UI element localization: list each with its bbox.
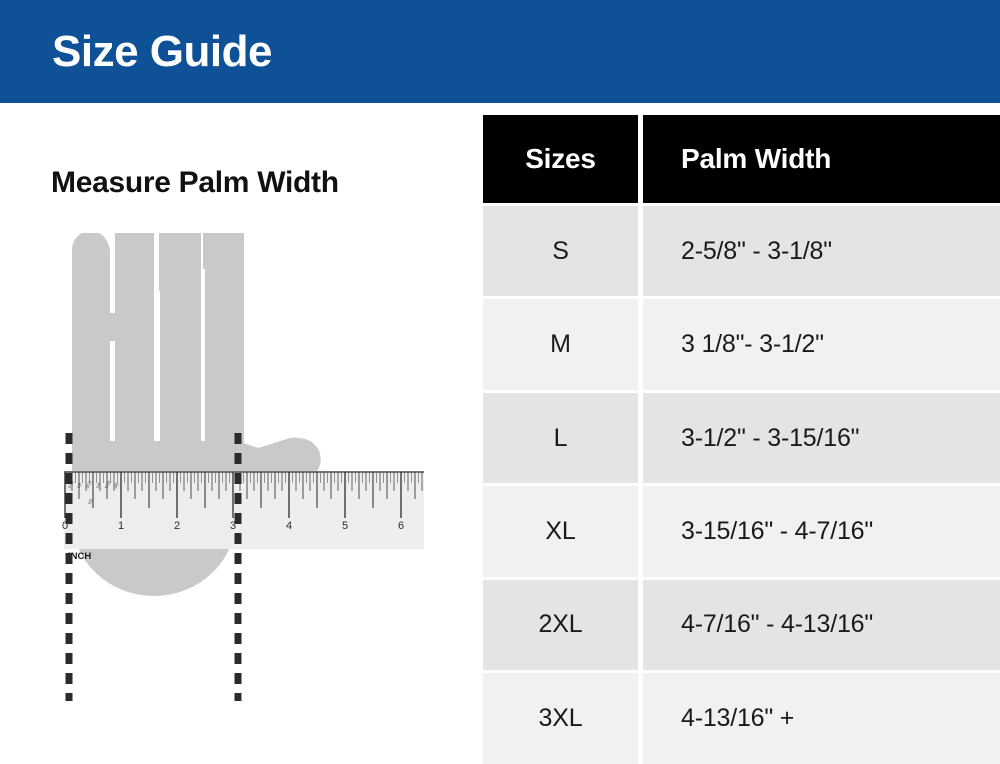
hand-with-ruler-illustration: 1/16 1/8 3/16 1/4 5/16 3/8 1/2 0 1 2 3 4… [60,233,460,703]
page-title: Size Guide [52,27,272,77]
cell-size: 3XL [483,673,638,763]
table-row: 2XL 4-7/16" - 4-13/16" [483,580,1000,670]
svg-text:2: 2 [174,520,180,532]
size-chart-table: Sizes Palm Width S 2-5/8" - 3-1/8" M 3 1… [483,115,1000,748]
cell-palm-width: 3 1/8"- 3-1/2" [643,299,1000,389]
svg-text:6: 6 [398,520,404,532]
cell-size: XL [483,486,638,576]
table-row: L 3-1/2" - 3-15/16" [483,393,1000,483]
table-row: S 2-5/8" - 3-1/8" [483,206,1000,296]
cell-palm-width: 2-5/8" - 3-1/8" [643,206,1000,296]
column-header-palm-width: Palm Width [643,115,1000,203]
table-row: 3XL 4-13/16" + [483,673,1000,763]
cell-palm-width: 3-1/2" - 3-15/16" [643,393,1000,483]
cell-palm-width: 4-7/16" - 4-13/16" [643,580,1000,670]
svg-text:1: 1 [118,520,124,532]
svg-text:5: 5 [342,520,348,532]
page-header-bar: Size Guide [0,0,1000,103]
cell-size: S [483,206,638,296]
table-header-row: Sizes Palm Width [483,115,1000,203]
svg-text:4: 4 [286,520,292,532]
ruler: 1/16 1/8 3/16 1/4 5/16 3/8 1/2 0 1 2 3 4… [62,471,424,562]
cell-size: 2XL [483,580,638,670]
measure-palm-width-heading: Measure Palm Width [51,166,339,200]
column-header-sizes: Sizes [483,115,638,203]
cell-palm-width: 3-15/16" - 4-7/16" [643,486,1000,576]
cell-size: L [483,393,638,483]
cell-size: M [483,299,638,389]
table-row: M 3 1/8"- 3-1/2" [483,299,1000,389]
measure-instructions-panel: Measure Palm Width [0,103,470,748]
cell-palm-width: 4-13/16" + [643,673,1000,763]
table-row: XL 3-15/16" - 4-7/16" [483,486,1000,576]
